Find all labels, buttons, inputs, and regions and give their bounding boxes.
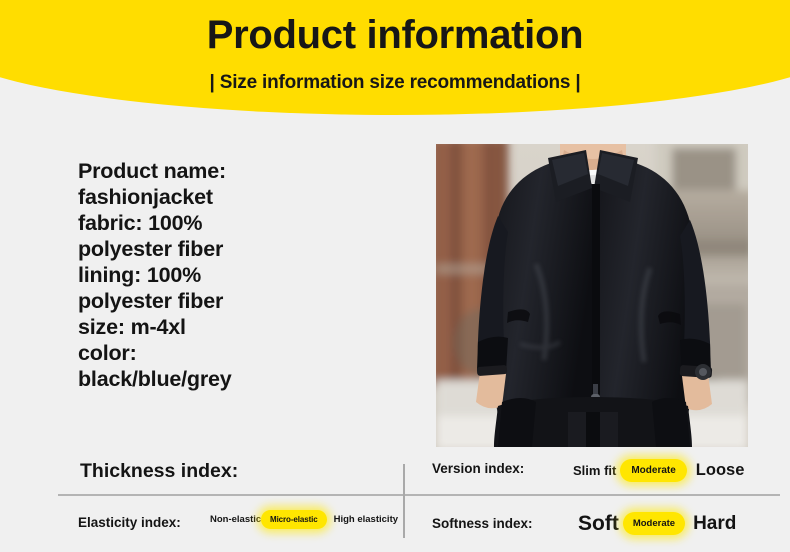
index-horizontal-divider — [58, 494, 780, 496]
version-scale-high-label: Loose — [696, 462, 745, 479]
product-photo — [436, 144, 748, 447]
version-scale-low-label: Slim fit — [573, 464, 616, 477]
product-information-page: Product information | Size information s… — [0, 0, 790, 552]
elasticity-index-label: Elasticity index: — [78, 515, 181, 530]
thickness-index-label: Thickness index: — [80, 460, 238, 483]
elasticity-scale-high-label: High elasticity — [334, 515, 378, 525]
version-index-scale: Slim fit Moderate Loose — [573, 459, 744, 482]
product-spec-line: polyester fiber — [78, 288, 408, 314]
elasticity-selected-pill[interactable]: Micro-elastic — [261, 510, 327, 529]
product-spec-line: fabric: 100% — [78, 210, 408, 236]
index-vertical-divider — [403, 464, 405, 538]
page-title: Product information — [0, 14, 790, 56]
softness-selected-pill[interactable]: Moderate — [623, 512, 685, 535]
product-spec-line: size: m-4xl — [78, 314, 408, 340]
elasticity-index-scale: Non-elastic Micro-elastic High elasticit… — [210, 510, 378, 529]
header-banner: Product information | Size information s… — [0, 0, 790, 120]
elasticity-scale-low-label: Non-elastic — [210, 515, 258, 525]
product-photo-illustration — [436, 144, 748, 447]
product-spec-line: black/blue/grey — [78, 366, 408, 392]
version-index-label: Version index: — [432, 461, 524, 476]
product-spec-line: Product name: — [78, 158, 408, 184]
product-spec-line: fashionjacket — [78, 184, 408, 210]
softness-index-scale: Soft Moderate Hard — [578, 512, 736, 535]
product-spec-line: polyester fiber — [78, 236, 408, 262]
product-spec-line: color: — [78, 340, 408, 366]
page-subtitle: | Size information size recommendations … — [0, 72, 790, 94]
softness-index-label: Softness index: — [432, 516, 533, 531]
softness-scale-high-label: Hard — [693, 514, 736, 534]
softness-scale-low-label: Soft — [578, 513, 619, 535]
version-selected-pill[interactable]: Moderate — [620, 459, 686, 482]
product-spec-text: Product name: fashionjacket fabric: 100%… — [78, 158, 408, 392]
product-spec-line: lining: 100% — [78, 262, 408, 288]
